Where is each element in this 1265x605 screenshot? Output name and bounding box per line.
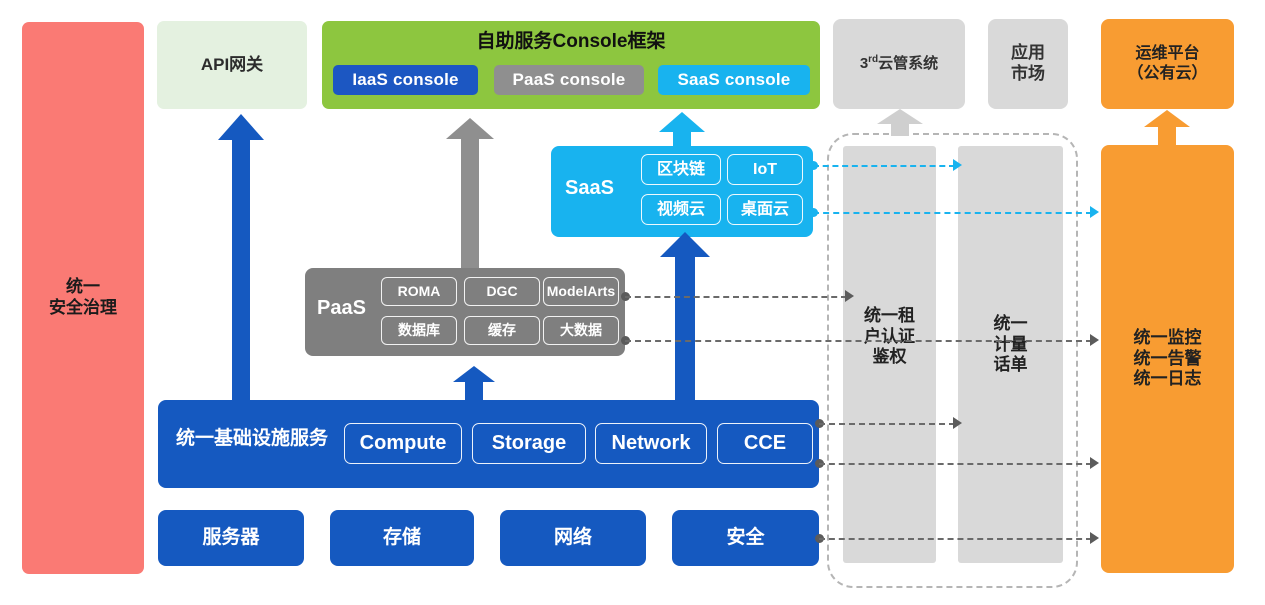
paas-chip-dgc-label: DGC — [486, 283, 517, 300]
paas-chip-modelarts[interactable]: ModelArts — [543, 277, 619, 306]
resource-box-security-label: 安全 — [726, 526, 764, 549]
connector-arrowhead-saas-auth — [953, 159, 962, 171]
saas-chip-blockchain[interactable]: 区块链 — [641, 154, 721, 185]
connector-resource-to-ops — [819, 538, 1092, 540]
infra-chip-compute-label: Compute — [360, 431, 447, 455]
saas-chip-iot[interactable]: IoT — [727, 154, 803, 185]
third-party-cloud-mgmt-label: 3rd云管系统 — [860, 54, 938, 73]
infra-chip-network[interactable]: Network — [595, 423, 707, 464]
iaas-console-label: IaaS console — [352, 70, 458, 91]
resource-box-network-label: 网络 — [554, 526, 592, 549]
iaas-console-chip[interactable]: IaaS console — [333, 65, 478, 95]
paas-console-chip[interactable]: PaaS console — [494, 65, 644, 95]
connector-saas-to-ops — [813, 212, 1092, 214]
arrow-saas-to-console — [659, 112, 705, 146]
connector-arrowhead-infra-ops — [1090, 457, 1099, 469]
unified-auth-label: 统一租 户认证 鉴权 — [843, 306, 936, 368]
saas-console-label: SaaS console — [678, 70, 791, 91]
paas-title: PaaS — [317, 296, 366, 320]
connector-arrowhead-saas-ops — [1090, 206, 1099, 218]
arrow-infra-to-saas — [660, 232, 710, 400]
console-framework-box[interactable]: 自助服务Console框架 IaaS console PaaS console … — [322, 21, 820, 109]
arrow-shared-to-third-party — [877, 109, 923, 136]
unified-auth-column[interactable]: 统一租 户认证 鉴权 — [843, 146, 936, 563]
arrow-infra-to-paas — [453, 366, 495, 402]
saas-chip-desktop-cloud[interactable]: 桌面云 — [727, 194, 803, 225]
connector-arrowhead-infra-meter — [953, 417, 962, 429]
api-gateway-label: API网关 — [201, 55, 263, 76]
connector-paas-to-ops — [625, 340, 1092, 342]
saas-title: SaaS — [565, 176, 614, 200]
saas-chip-desktop-cloud-label: 桌面云 — [741, 200, 789, 220]
resource-box-storage[interactable]: 存储 — [330, 510, 474, 566]
resource-box-security[interactable]: 安全 — [672, 510, 819, 566]
unified-infrastructure-title: 统一基础设施服务 — [176, 427, 328, 450]
ops-platform-header-label: 运维平台 （公有云） — [1127, 44, 1207, 83]
infra-chip-storage-label: Storage — [492, 431, 566, 455]
saas-console-chip[interactable]: SaaS console — [658, 65, 810, 95]
arrow-paas-to-console — [446, 118, 494, 268]
infra-chip-cce[interactable]: CCE — [717, 423, 813, 464]
paas-chip-bigdata[interactable]: 大数据 — [543, 316, 619, 345]
saas-chip-video-cloud-label: 视频云 — [657, 200, 705, 220]
app-market-label: 应用 市场 — [1011, 43, 1045, 84]
saas-box[interactable]: SaaS 区块链 IoT 视频云 桌面云 — [551, 146, 813, 237]
infra-chip-storage[interactable]: Storage — [472, 423, 586, 464]
paas-chip-roma[interactable]: ROMA — [381, 277, 457, 306]
infra-chip-network-label: Network — [612, 431, 691, 455]
unified-metering-column[interactable]: 统一 计量 话单 — [958, 146, 1063, 563]
paas-chip-cache[interactable]: 缓存 — [464, 316, 540, 345]
api-gateway-box[interactable]: API网关 — [157, 21, 307, 109]
resource-box-storage-label: 存储 — [383, 526, 421, 549]
paas-chip-bigdata-label: 大数据 — [560, 322, 602, 339]
paas-chip-modelarts-label: ModelArts — [547, 283, 615, 300]
resource-box-server[interactable]: 服务器 — [158, 510, 304, 566]
paas-box[interactable]: PaaS ROMA DGC ModelArts 数据库 缓存 大数据 — [305, 268, 625, 356]
connector-saas-to-auth — [813, 165, 955, 167]
console-framework-title: 自助服务Console框架 — [322, 30, 820, 53]
connector-paas-to-auth — [625, 296, 847, 298]
security-governance-label: 统一 安全治理 — [49, 277, 117, 318]
ops-platform-body-label: 统一监控 统一告警 统一日志 — [1134, 328, 1202, 390]
third-party-cloud-mgmt-box[interactable]: 3rd云管系统 — [833, 19, 965, 109]
connector-infra-to-meter — [819, 423, 955, 425]
infra-chip-compute[interactable]: Compute — [344, 423, 462, 464]
ops-platform-header-box[interactable]: 运维平台 （公有云） — [1101, 19, 1234, 109]
saas-chip-video-cloud[interactable]: 视频云 — [641, 194, 721, 225]
paas-console-label: PaaS console — [513, 70, 626, 91]
paas-chip-roma-label: ROMA — [398, 283, 441, 300]
connector-arrowhead-resource-ops — [1090, 532, 1099, 544]
app-market-box[interactable]: 应用 市场 — [988, 19, 1068, 109]
paas-chip-database[interactable]: 数据库 — [381, 316, 457, 345]
unified-infrastructure-box[interactable]: 统一基础设施服务 Compute Storage Network CCE — [158, 400, 819, 488]
unified-metering-label: 统一 计量 话单 — [958, 314, 1063, 376]
security-governance-panel[interactable]: 统一 安全治理 — [22, 22, 144, 574]
connector-infra-to-ops — [819, 463, 1092, 465]
ops-platform-body-box[interactable]: 统一监控 统一告警 统一日志 — [1101, 145, 1234, 573]
saas-chip-blockchain-label: 区块链 — [657, 160, 705, 180]
connector-arrowhead-paas-auth — [845, 290, 854, 302]
saas-chip-iot-label: IoT — [753, 160, 777, 180]
paas-chip-database-label: 数据库 — [398, 322, 440, 339]
resource-box-network[interactable]: 网络 — [500, 510, 646, 566]
arrow-ops-body-to-head — [1144, 110, 1190, 147]
paas-chip-dgc[interactable]: DGC — [464, 277, 540, 306]
resource-box-server-label: 服务器 — [202, 526, 259, 549]
infra-chip-cce-label: CCE — [744, 431, 786, 455]
architecture-diagram: 统一 安全治理 API网关 自助服务Console框架 IaaS console… — [0, 0, 1265, 605]
arrow-infra-to-api-gateway — [218, 114, 264, 400]
paas-chip-cache-label: 缓存 — [488, 322, 516, 339]
connector-arrowhead-paas-ops — [1090, 334, 1099, 346]
